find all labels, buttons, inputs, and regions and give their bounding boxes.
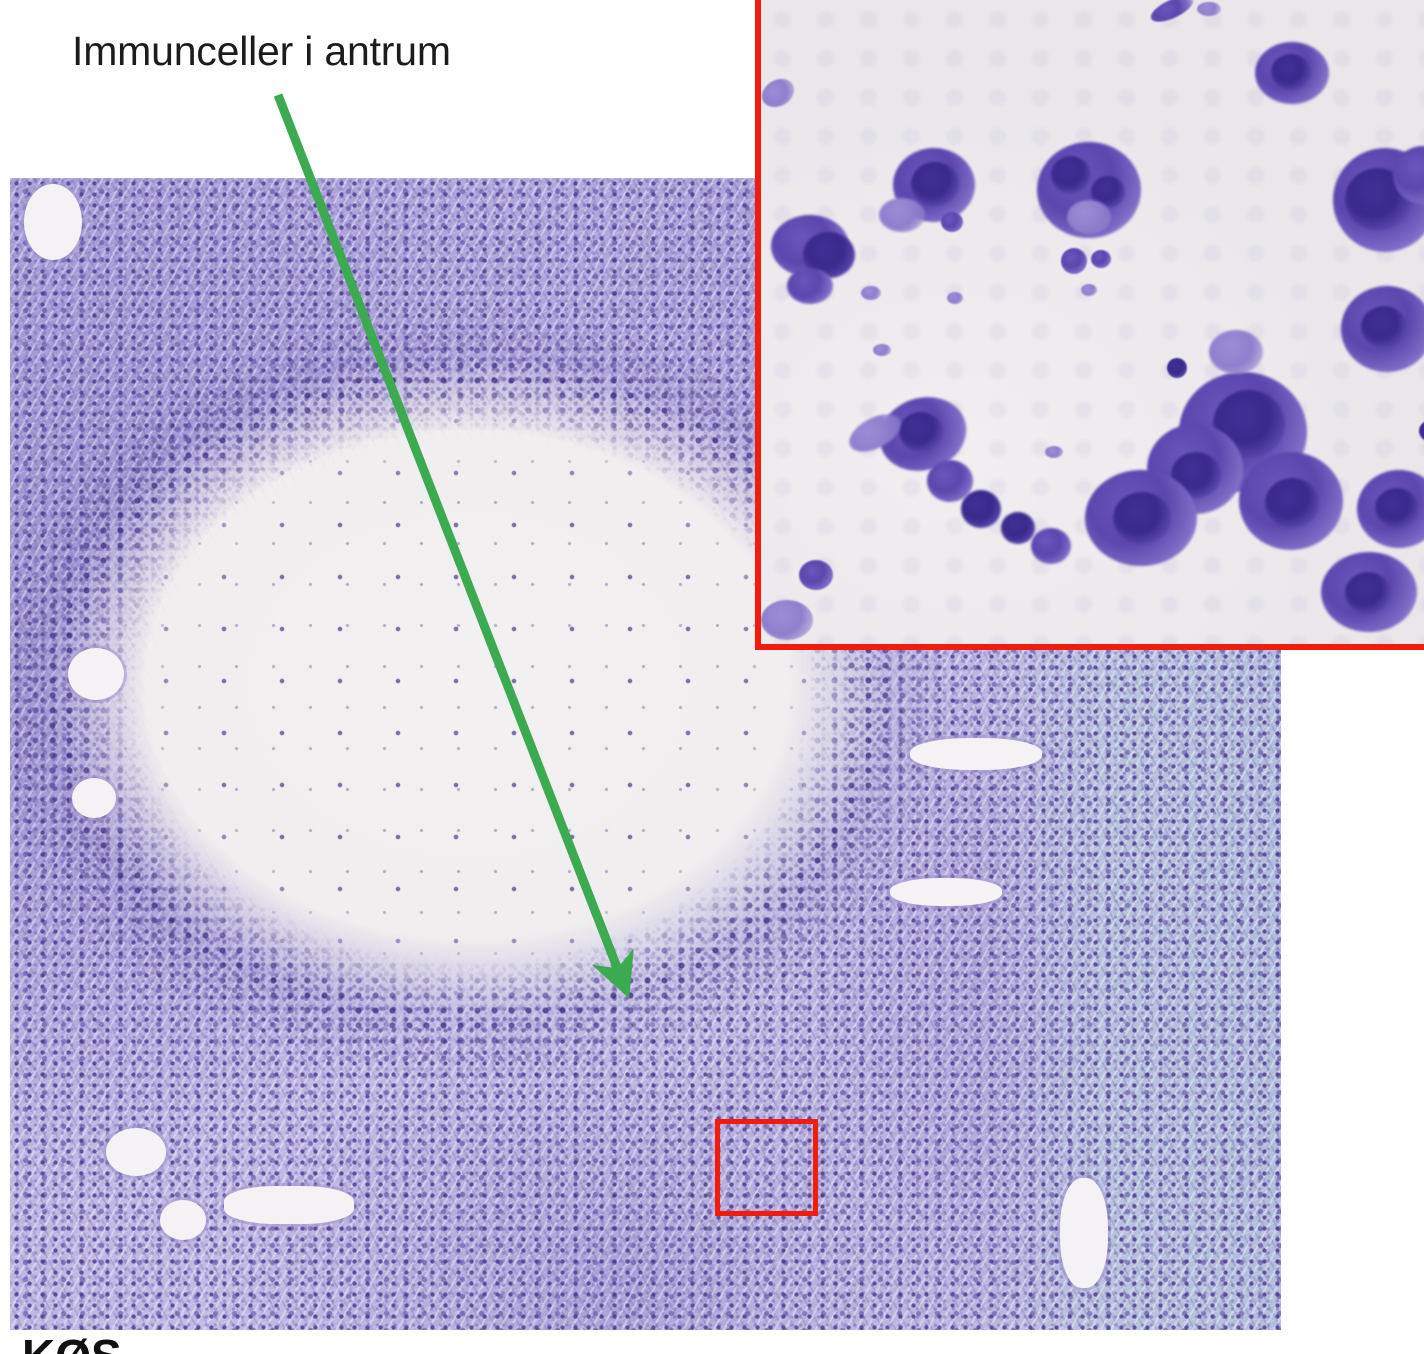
presentation-slide: Immunceller i antrum KØS (0, 0, 1424, 1354)
inset-cell-layer (761, 0, 1424, 644)
page-title: Immunceller i antrum (72, 26, 451, 76)
magnified-inset-image[interactable] (755, 0, 1424, 650)
footer-label: KØS (22, 1330, 122, 1354)
region-of-interest-box[interactable] (715, 1119, 818, 1216)
